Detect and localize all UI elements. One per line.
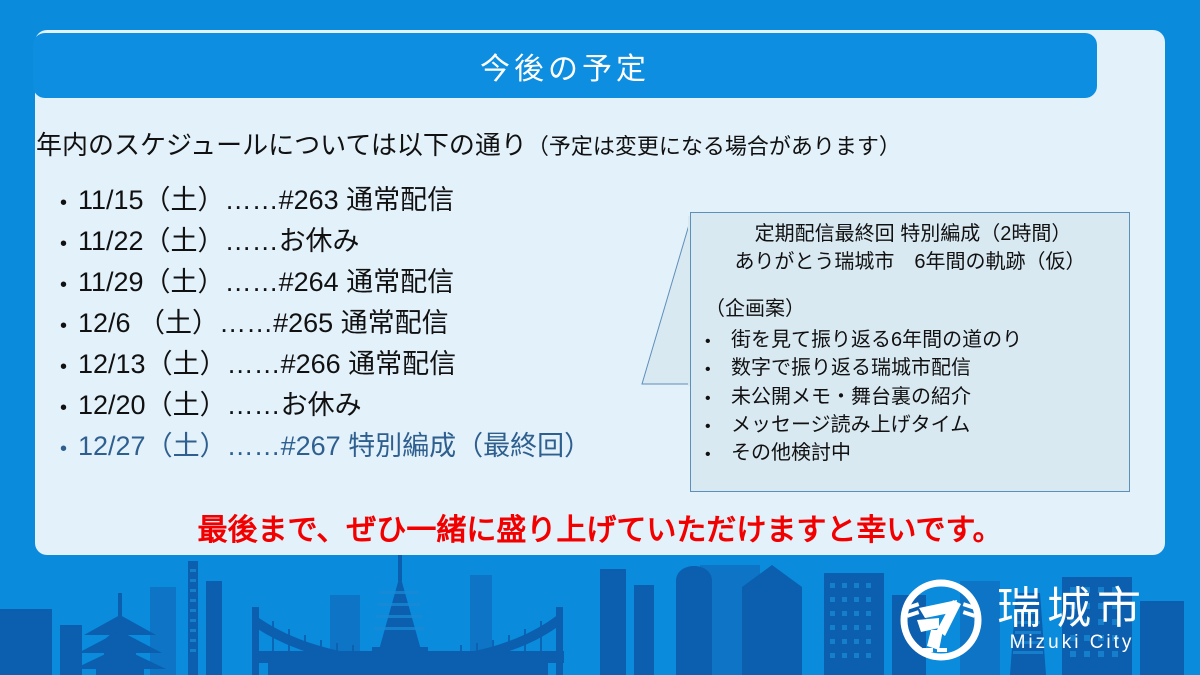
list-item: • 11/15（土） …… #263 通常配信 xyxy=(60,178,700,219)
schedule-leader: …… xyxy=(225,226,279,257)
list-item: • 未公開メモ・舞台裏の紹介 xyxy=(705,383,1129,411)
schedule-date: 12/6 （土） xyxy=(78,301,219,340)
callout-headline-line-1: 定期配信最終回 特別編成（2時間） xyxy=(691,221,1129,249)
schedule-date: 11/22（土） xyxy=(78,219,225,258)
schedule-detail: #266 通常配信 xyxy=(281,342,457,381)
schedule-date: 12/20（土） xyxy=(78,383,227,422)
closing-message: 最後まで、ぜひ一緒に盛り上げていただけますと幸いです。 xyxy=(0,505,1200,549)
schedule-leader: …… xyxy=(227,349,281,380)
schedule-date: 12/27（土） xyxy=(78,424,227,463)
list-item-final-episode: • 12/27（土） …… #267 特別編成（最終回） xyxy=(60,424,700,465)
callout-headline: 定期配信最終回 特別編成（2時間） ありがとう瑞城市 6年間の軌跡（仮） xyxy=(691,213,1129,276)
schedule-detail: #265 通常配信 xyxy=(273,301,449,340)
list-item: • 12/13（土） …… #266 通常配信 xyxy=(60,342,700,383)
schedule-detail: お休み xyxy=(281,383,362,422)
list-item: • 11/22（土） …… お休み xyxy=(60,219,700,260)
bullet-icon: • xyxy=(705,416,731,439)
callout-plan-text: その他検討中 xyxy=(731,439,851,467)
schedule-leader: …… xyxy=(225,267,279,298)
callout-plan-list: • 街を見て振り返る6年間の道のり • 数字で振り返る瑞城市配信 • 未公開メモ… xyxy=(691,326,1129,468)
city-logo-text: 瑞城市 Mizuki City xyxy=(997,586,1147,653)
schedule-date: 11/15（土） xyxy=(78,178,225,217)
intro-line: 年内のスケジュールについては以下の通り（予定は変更になる場合があります） xyxy=(36,125,1106,162)
bullet-icon: • xyxy=(705,359,731,382)
callout-box-final-episode-plan: 定期配信最終回 特別編成（2時間） ありがとう瑞城市 6年間の軌跡（仮） （企画… xyxy=(690,212,1130,492)
mizuki-city-emblem-icon xyxy=(895,574,987,666)
callout-headline-line-2: ありがとう瑞城市 6年間の軌跡（仮） xyxy=(691,249,1129,277)
schedule-leader: …… xyxy=(219,308,273,339)
schedule-date: 12/13（土） xyxy=(78,342,227,381)
intro-main-text: 年内のスケジュールについては以下の通り xyxy=(36,130,527,160)
callout-plan-text: 街を見て振り返る6年間の道のり xyxy=(731,326,1022,354)
bullet-icon: • xyxy=(60,275,78,295)
bullet-icon: • xyxy=(60,316,78,336)
list-item: • 12/6 （土） …… #265 通常配信 xyxy=(60,301,700,342)
schedule-leader: …… xyxy=(227,390,281,421)
bullet-icon: • xyxy=(705,444,731,467)
schedule-leader: …… xyxy=(227,431,281,462)
bullet-icon: • xyxy=(60,193,78,213)
list-item: • メッセージ読み上げタイム xyxy=(705,411,1129,439)
bullet-icon: • xyxy=(705,388,731,411)
city-logo: 瑞城市 Mizuki City xyxy=(895,570,1185,670)
schedule-date: 11/29（土） xyxy=(78,260,225,299)
callout-subheading: （企画案） xyxy=(691,296,1129,324)
schedule-detail: #263 通常配信 xyxy=(279,178,455,217)
slide-canvas: 今後の予定 年内のスケジュールについては以下の通り（予定は変更になる場合がありま… xyxy=(0,0,1200,675)
bullet-icon: • xyxy=(705,331,731,354)
page-title: 今後の予定 xyxy=(480,44,650,88)
schedule-list: • 11/15（土） …… #263 通常配信 • 11/22（土） …… お休… xyxy=(60,178,700,465)
schedule-leader: …… xyxy=(225,185,279,216)
bullet-icon: • xyxy=(60,398,78,418)
callout-plan-text: メッセージ読み上げタイム xyxy=(731,411,970,439)
callout-plan-text: 未公開メモ・舞台裏の紹介 xyxy=(731,383,971,411)
bullet-icon: • xyxy=(60,439,78,459)
list-item: • 数字で振り返る瑞城市配信 xyxy=(705,354,1129,382)
list-item: • 12/20（土） …… お休み xyxy=(60,383,700,424)
schedule-detail: #267 特別編成（最終回） xyxy=(281,424,592,463)
list-item: • 街を見て振り返る6年間の道のり xyxy=(705,326,1129,354)
list-item: • 11/29（土） …… #264 通常配信 xyxy=(60,260,700,301)
schedule-detail: お休み xyxy=(279,219,360,258)
city-name-en: Mizuki City xyxy=(997,633,1147,654)
list-item: • その他検討中 xyxy=(705,439,1129,467)
intro-note-text: （予定は変更になる場合があります） xyxy=(527,134,901,159)
city-name-jp: 瑞城市 xyxy=(997,586,1147,632)
bullet-icon: • xyxy=(60,234,78,254)
schedule-detail: #264 通常配信 xyxy=(279,260,455,299)
slide-title-bar: 今後の予定 xyxy=(33,33,1097,98)
bullet-icon: • xyxy=(60,357,78,377)
callout-plan-text: 数字で振り返る瑞城市配信 xyxy=(731,354,971,382)
